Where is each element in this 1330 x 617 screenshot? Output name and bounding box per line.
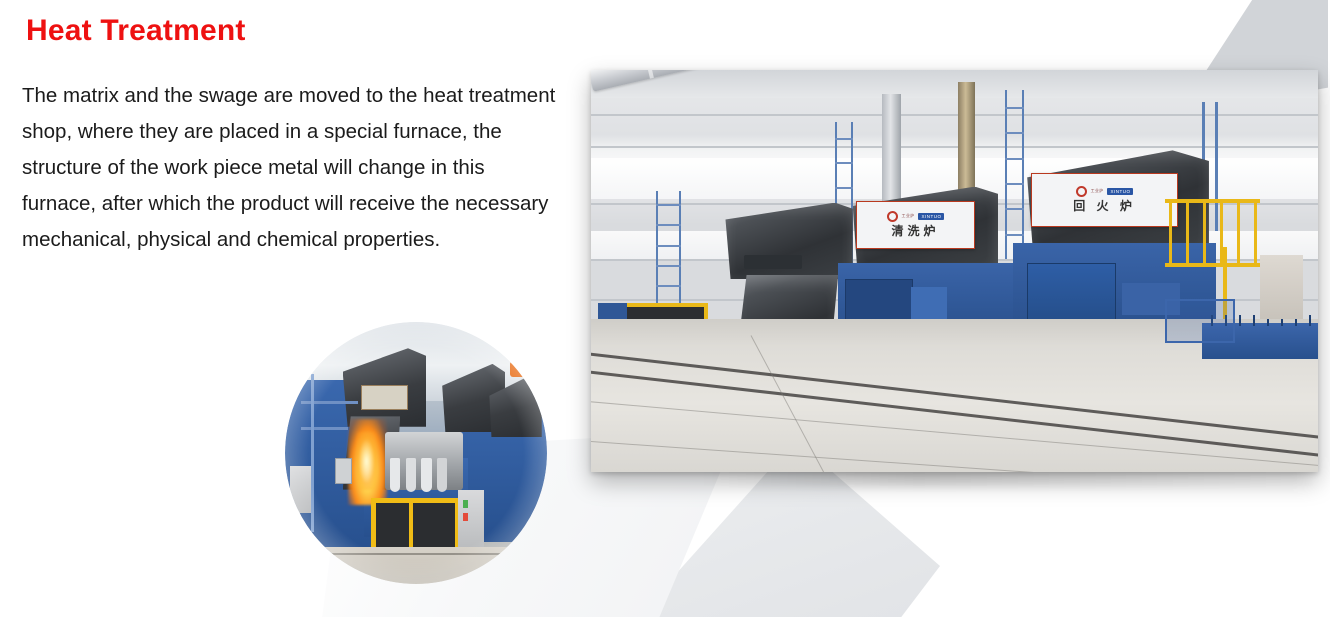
furnace-sign-logos-right: 工业炉 XINTUO (1076, 186, 1134, 197)
furnace-sign-brand-middle: 工业炉 (902, 213, 915, 219)
brand-dot-icon (887, 211, 898, 222)
circle-floor-seam (285, 553, 547, 555)
photo-ceiling-beam (591, 70, 1318, 98)
control-panel-left (335, 458, 353, 484)
work-piece-part-2 (406, 458, 416, 492)
cabinet-indicator-green (463, 500, 468, 508)
work-piece-part-3 (421, 458, 431, 492)
orange-equipment-top-right (510, 361, 526, 377)
furnace-sign-label-middle: 清洗炉 (891, 222, 939, 239)
work-piece-part-4 (437, 458, 447, 492)
control-cabinet-right (458, 490, 484, 556)
cabinet-indicator-red (463, 513, 468, 521)
work-piece-part-1 (390, 458, 400, 492)
doorway-far-right (1260, 255, 1304, 319)
furnace-sign-right[interactable]: 工业炉 XINTUO 回 火 炉 (1031, 173, 1178, 227)
furnace-sign-brand-right: 工业炉 (1091, 188, 1104, 194)
conveyor-frame-right (1165, 299, 1234, 343)
decorative-shadow-strip (700, 470, 1320, 486)
pipe-horizontal-2 (301, 427, 348, 430)
circle-photo (285, 322, 547, 584)
furnace-sign-badge-right: XINTUO (1107, 188, 1133, 195)
furnace-flame-core (356, 432, 377, 490)
pipe-vertical-1 (311, 374, 314, 531)
slide-canvas: Heat Treatment The matrix and the swage … (0, 0, 1330, 617)
furnace-sign-middle[interactable]: 工业炉 XINTUO 清洗炉 (856, 201, 974, 249)
brand-dot-icon (1076, 186, 1087, 197)
page-title: Heat Treatment (26, 14, 246, 48)
furnace-sign-label-right: 回 火 炉 (1073, 197, 1136, 214)
main-photo: 工业炉 XINTUO 清洗炉 工业炉 XINTUO 回 火 炉 (591, 70, 1318, 472)
pipe-horizontal-1 (301, 401, 359, 404)
furnace-window-left (744, 255, 802, 269)
photo-ladder-right (1005, 90, 1024, 259)
furnace-sign-logos-middle: 工业炉 XINTUO (887, 211, 945, 222)
furnace-panel-middle (911, 287, 947, 319)
furnace-sign-badge-middle: XINTUO (918, 213, 944, 220)
circle-furnace-sign (361, 385, 408, 411)
safety-railing-yellow (1165, 199, 1260, 267)
body-paragraph: The matrix and the swage are moved to th… (22, 78, 562, 258)
